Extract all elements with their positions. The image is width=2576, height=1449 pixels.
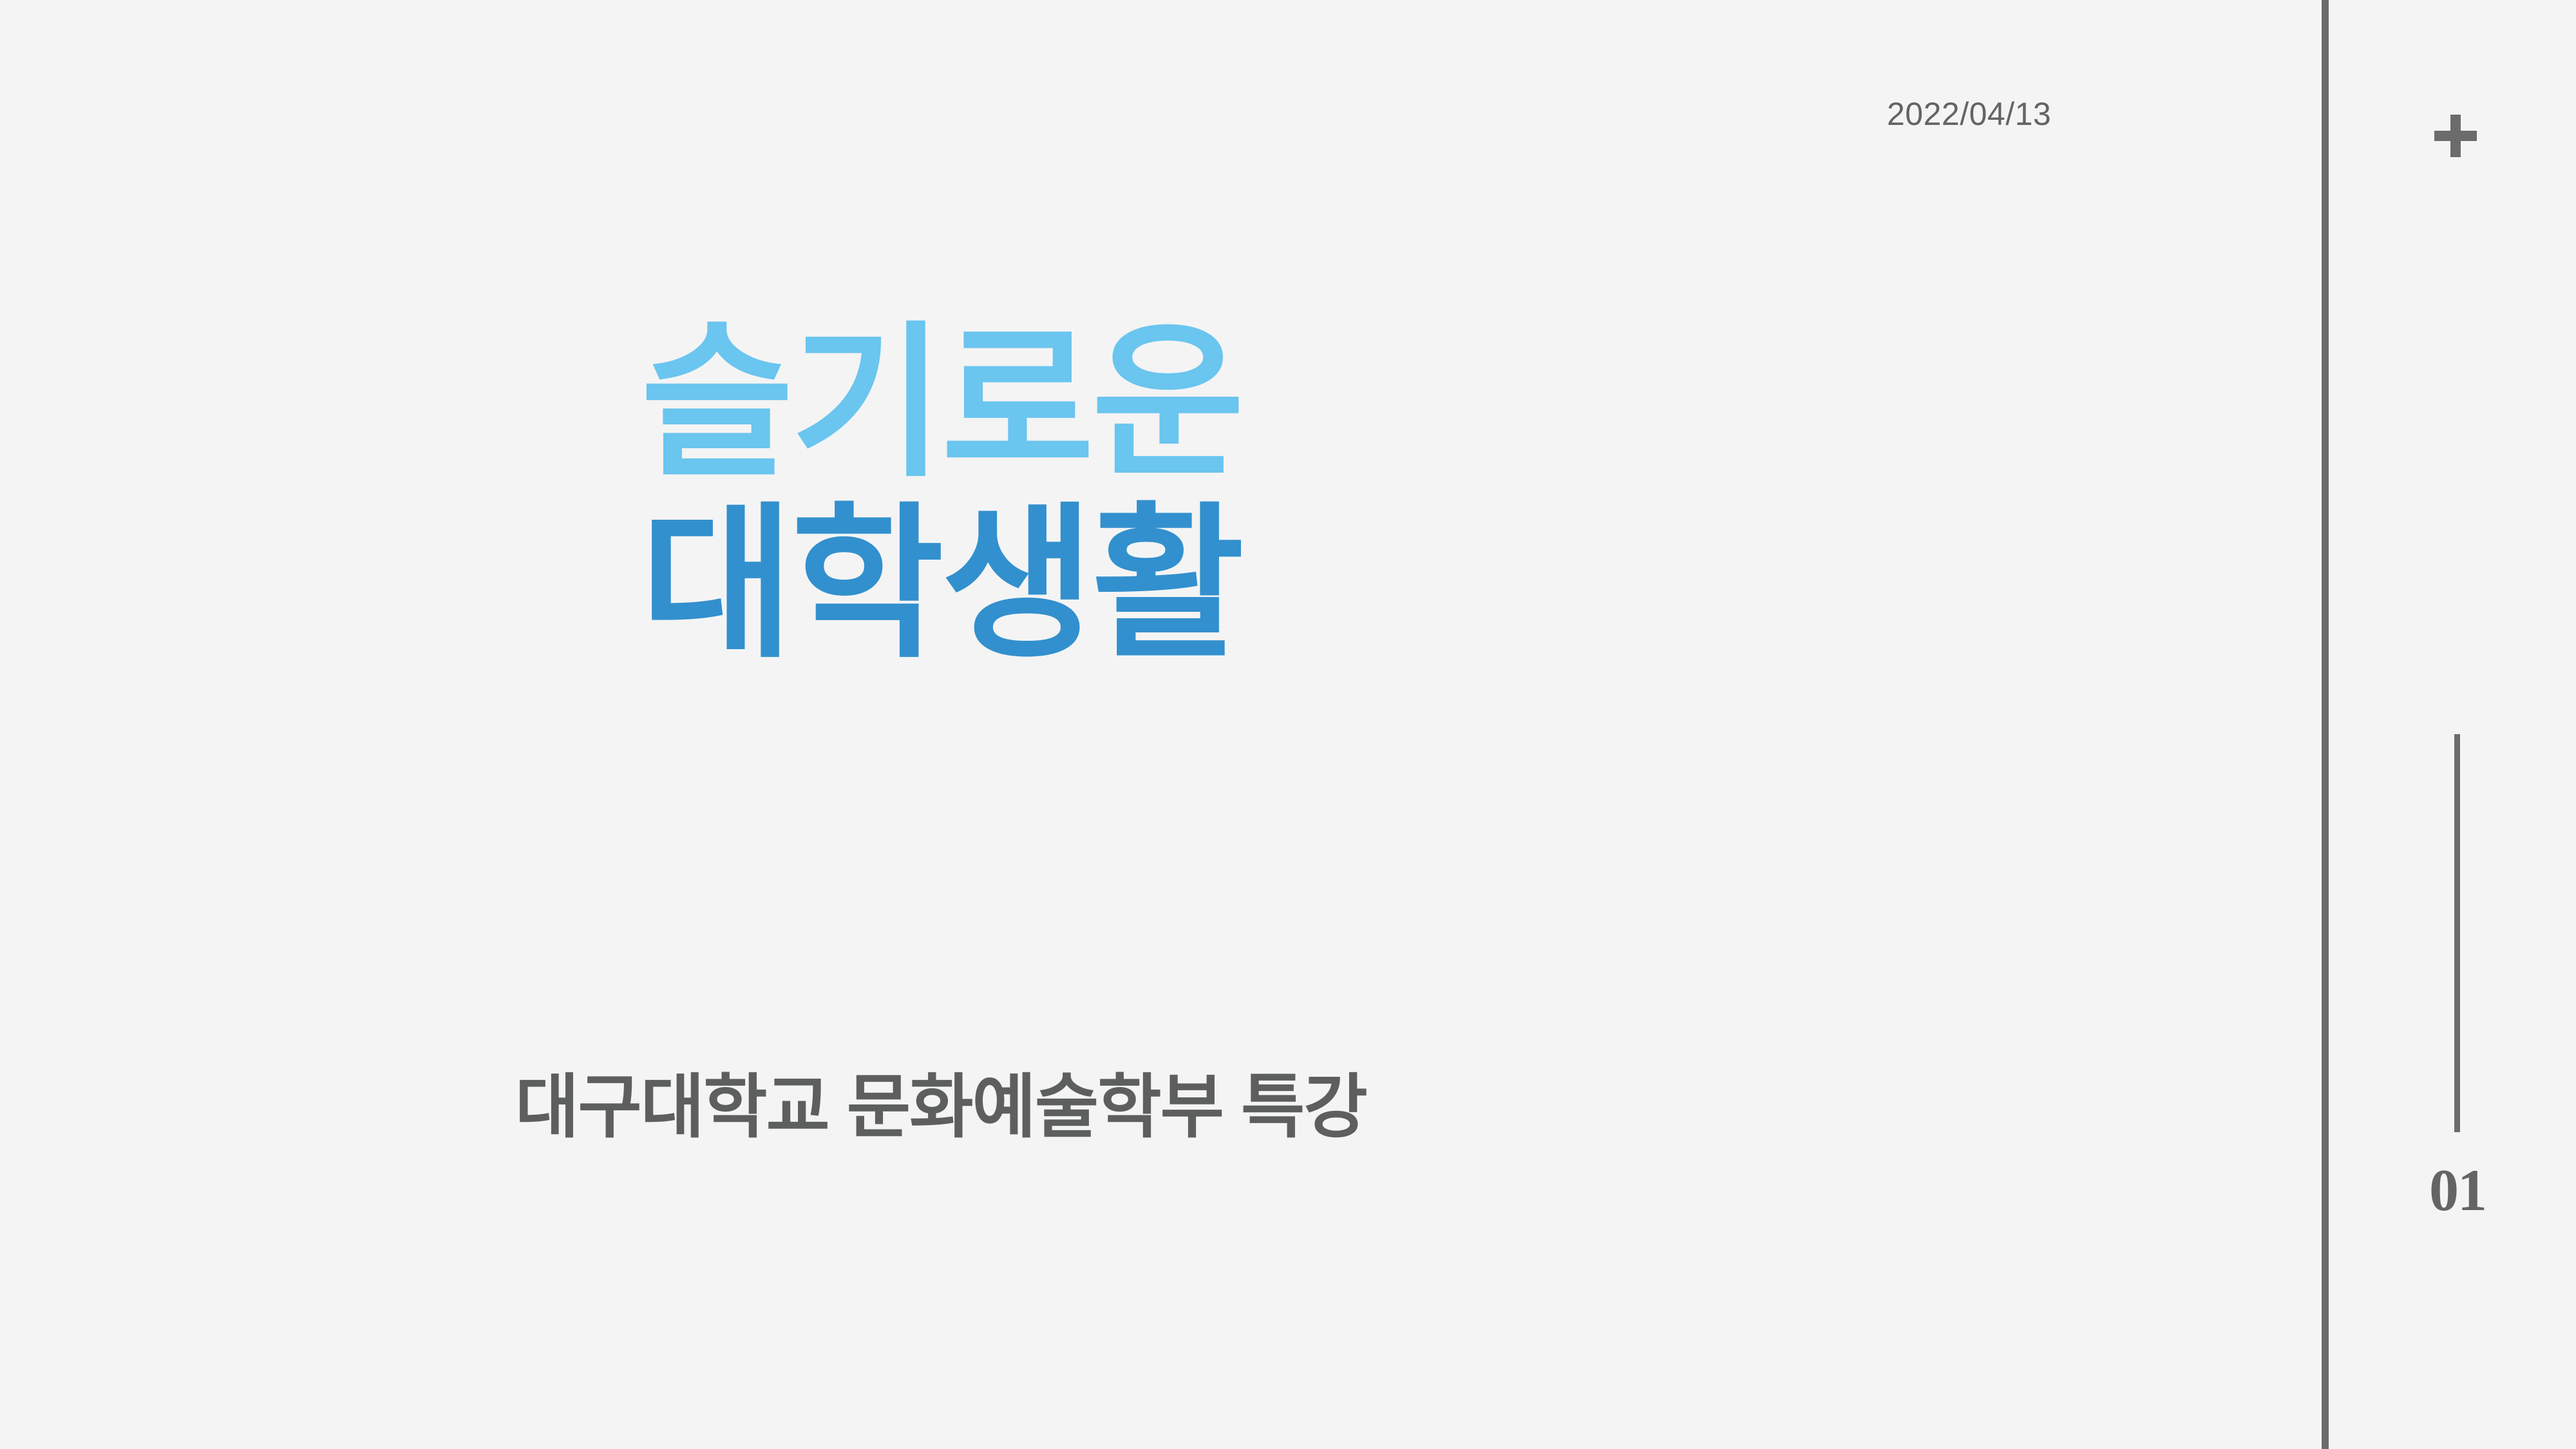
slide-date: 2022/04/13 (1887, 95, 2106, 133)
slide-subtitle: 대구대학교 문화예술학부 특강 (515, 1051, 1367, 1151)
presentation-slide: 2022/04/13 슬기로운 대학생활 대구대학교 문화예술학부 특강 01 (0, 0, 2576, 1449)
vertical-divider (2322, 0, 2329, 1449)
page-number: 01 (2393, 1156, 2522, 1224)
rail-vertical-rule (2454, 734, 2460, 1132)
plus-icon (2434, 115, 2477, 157)
title-line-secondary: 대학생활 (641, 503, 2058, 666)
right-rail: 01 (2329, 0, 2576, 1449)
title-block: 슬기로운 대학생활 (641, 322, 2058, 666)
title-line-primary: 슬기로운 (641, 322, 2058, 485)
